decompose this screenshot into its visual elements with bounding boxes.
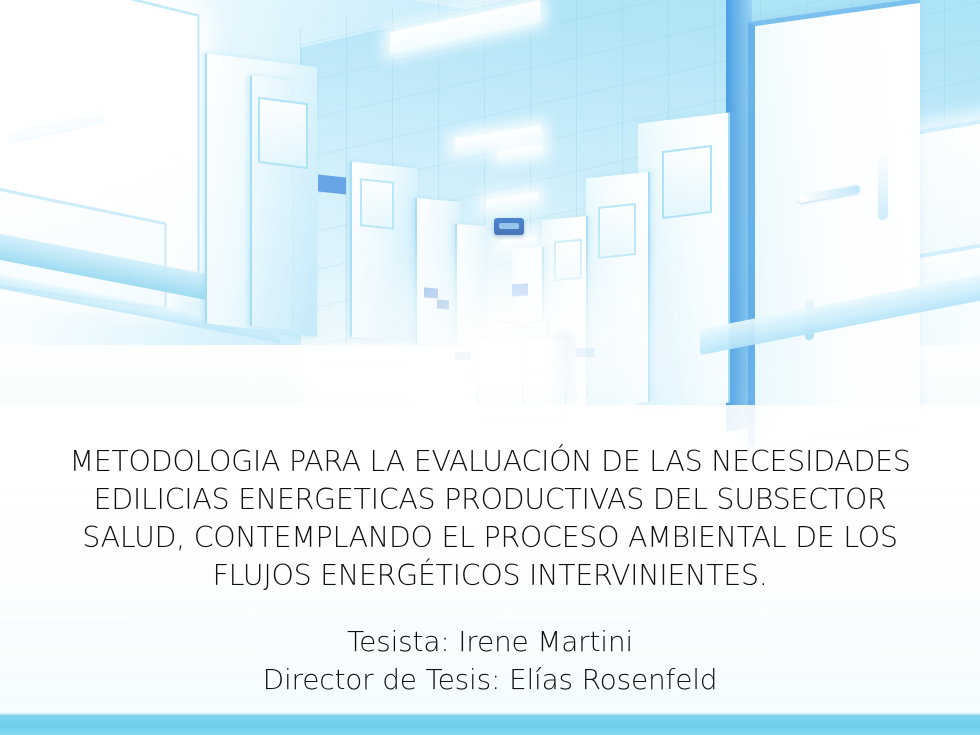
- bottom-accent-bar: [0, 715, 980, 735]
- slide-title: METODOLOGIA PARA LA EVALUACIÓN DE LAS NE…: [15, 443, 965, 595]
- end-door-window-right: [531, 350, 553, 372]
- blurred-person-silhouette: [553, 330, 575, 408]
- right-door-window-3: [554, 239, 582, 281]
- text-block: METODOLOGIA PARA LA EVALUACIÓN DE LAS NE…: [0, 405, 980, 715]
- ceiling-mounted-device: [494, 218, 524, 235]
- left-door-window-2: [360, 178, 394, 230]
- right-door-window-2: [598, 203, 636, 259]
- exit-sign: EXIT: [493, 322, 549, 336]
- slide-credits: Tesista: Irene Martini Director de Tesis…: [15, 595, 965, 699]
- far-sign-right: [575, 348, 595, 357]
- left-door-window-1: [258, 97, 308, 169]
- door-pull-bar: [878, 149, 888, 220]
- right-wall-sign: [512, 283, 528, 296]
- far-sign-left: [455, 352, 471, 360]
- end-door-window-left: [491, 350, 513, 372]
- left-wall-sign-1: [318, 175, 346, 195]
- right-main-door: [748, 0, 920, 447]
- right-door-window-1: [662, 145, 712, 219]
- title-slide: EXIT METODOLOGIA PARA LA EVALUACIÓN DE L…: [0, 0, 980, 735]
- left-wall-sign-2: [424, 287, 438, 298]
